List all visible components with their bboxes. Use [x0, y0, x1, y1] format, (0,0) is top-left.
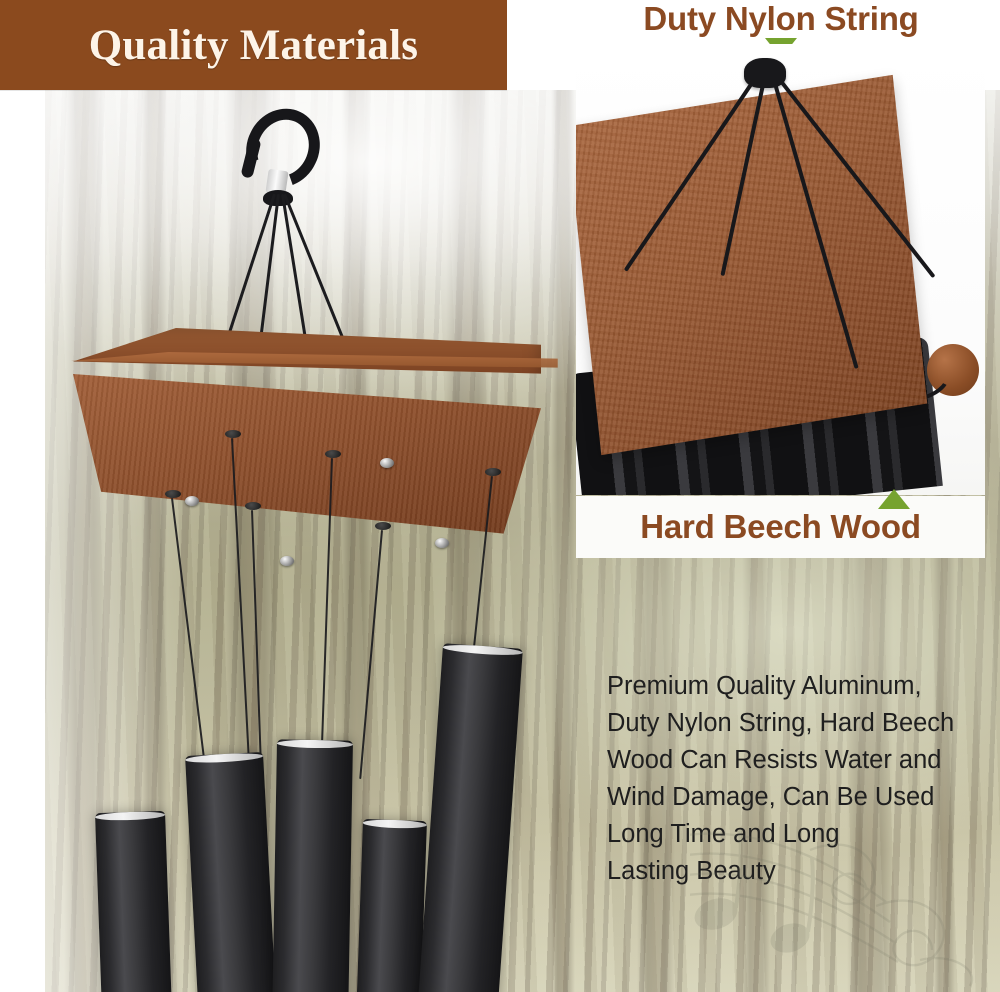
- aluminum-tube: [416, 643, 523, 992]
- label-duty-nylon-string: Duty Nylon String: [576, 0, 986, 38]
- wind-chime-product-photo: [45, 90, 645, 992]
- section-title-banner: Quality Materials: [0, 0, 507, 90]
- beech-wood-top-plate: [73, 328, 541, 568]
- metal-hook-icon: [241, 108, 303, 194]
- page-title: Quality Materials: [89, 21, 418, 70]
- product-feature-image: Quality Materials Duty Nylon String Hard…: [0, 0, 1000, 992]
- aluminum-tube: [355, 819, 427, 992]
- wood-plate-closeup-photo: [576, 44, 985, 495]
- left-white-margin: [0, 90, 45, 992]
- aluminum-tube: [272, 739, 353, 992]
- aluminum-tube: [95, 811, 172, 992]
- label-hard-beech-wood: Hard Beech Wood: [640, 508, 921, 546]
- product-description: Premium Quality Aluminum, Duty Nylon Str…: [607, 668, 997, 890]
- label-band-hard-beech-wood: Hard Beech Wood: [576, 496, 985, 558]
- arrow-up-icon: [878, 489, 910, 509]
- aluminum-tube: [185, 752, 277, 992]
